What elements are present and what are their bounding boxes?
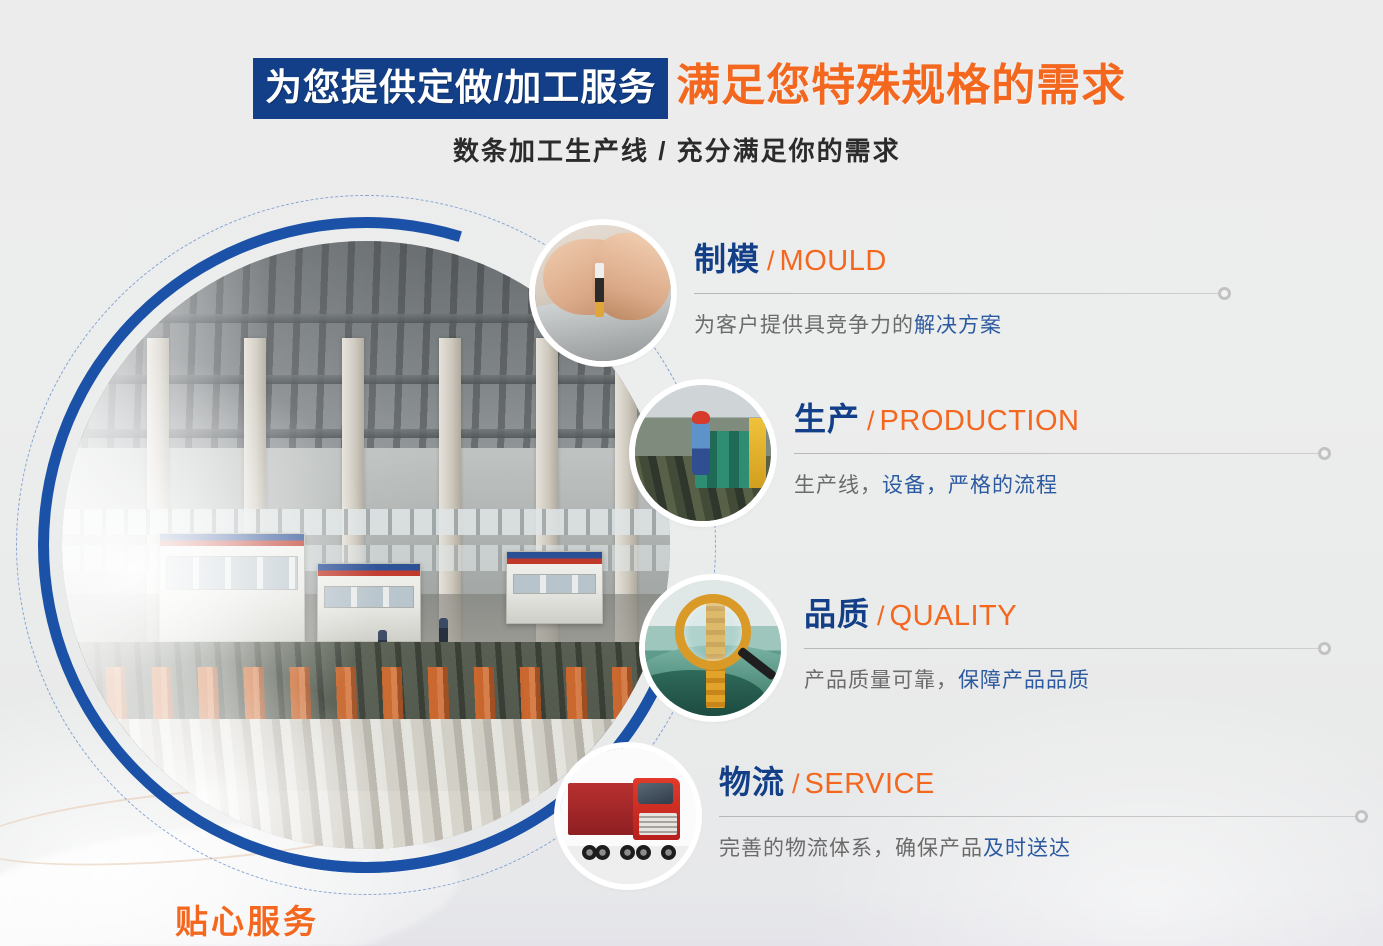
feature-desc-highlight: 设备，严格的流程 xyxy=(882,474,1058,497)
feature-title-en: QUALITY xyxy=(890,600,1018,632)
headline: 为您提供定做/加工服务 满足您特殊规格的需求 xyxy=(253,58,1126,119)
feature-title-cn: 制模 xyxy=(694,241,760,277)
feature-title-mould: 制模/MOULD xyxy=(694,243,887,276)
feature-title-separator: / xyxy=(785,769,805,799)
feature-title-cn: 物流 xyxy=(719,764,785,800)
feature-desc-highlight: 保障产品品质 xyxy=(958,669,1090,692)
feature-row-service[interactable]: 物流/SERVICE 完善的物流体系，确保产品及时送达 xyxy=(560,748,1380,888)
production-thumbnail xyxy=(635,385,771,521)
feature-title-cn: 生产 xyxy=(794,401,860,437)
mould-thumbnail xyxy=(535,225,671,361)
feature-desc-plain: 为客户提供具竞争力的 xyxy=(694,314,914,337)
feature-divider-service xyxy=(719,816,1362,817)
feature-desc-service: 完善的物流体系，确保产品及时送达 xyxy=(719,832,1071,862)
headline-accent: 满足您特殊规格的需求 xyxy=(668,58,1126,119)
subheadline: 数条加工生产线 / 充分满足你的需求 xyxy=(453,131,901,168)
feature-title-en: PRODUCTION xyxy=(880,405,1080,437)
feature-row-quality[interactable]: 品质/QUALITY 产品质量可靠，保障产品品质 xyxy=(645,580,1383,720)
quality-thumbnail xyxy=(645,580,781,716)
feature-title-quality: 品质/QUALITY xyxy=(804,598,1017,631)
feature-divider-endpoint-service xyxy=(1355,810,1368,823)
feature-title-en: MOULD xyxy=(780,245,887,277)
feature-desc-highlight: 及时送达 xyxy=(983,837,1071,860)
feature-divider-production xyxy=(794,453,1325,454)
feature-divider-endpoint-quality xyxy=(1318,642,1331,655)
feature-desc-mould: 为客户提供具竞争力的解决方案 xyxy=(694,309,1002,339)
feature-desc-highlight: 解决方案 xyxy=(914,314,1002,337)
feature-desc-production: 生产线，设备，严格的流程 xyxy=(794,469,1058,499)
feature-desc-plain: 产品质量可靠， xyxy=(804,669,958,692)
feature-title-en: SERVICE xyxy=(805,768,935,800)
feature-divider-quality xyxy=(804,648,1325,649)
feature-divider-endpoint-mould xyxy=(1218,287,1231,300)
promo-banner: 为您提供定做/加工服务 满足您特殊规格的需求 数条加工生产线 / 充分满足你的需… xyxy=(0,0,1383,946)
feature-desc-plain: 生产线， xyxy=(794,474,882,497)
feature-row-mould[interactable]: 制模/MOULD 为客户提供具竞争力的解决方案 xyxy=(535,225,1295,365)
feature-title-separator: / xyxy=(870,601,890,631)
feature-title-service: 物流/SERVICE xyxy=(719,766,935,799)
service-title: 贴心服务 xyxy=(175,895,319,943)
feature-desc-plain: 完善的物流体系，确保产品 xyxy=(719,837,983,860)
logistics-thumbnail xyxy=(560,748,696,884)
feature-title-separator: / xyxy=(860,406,880,436)
feature-divider-mould xyxy=(694,293,1225,294)
feature-divider-endpoint-production xyxy=(1318,447,1331,460)
feature-desc-quality: 产品质量可靠，保障产品品质 xyxy=(804,664,1090,694)
feature-row-production[interactable]: 生产/PRODUCTION 生产线，设备，严格的流程 xyxy=(635,385,1383,525)
headline-badge: 为您提供定做/加工服务 xyxy=(253,58,668,119)
feature-title-production: 生产/PRODUCTION xyxy=(794,403,1079,436)
feature-title-cn: 品质 xyxy=(804,596,870,632)
feature-title-separator: / xyxy=(760,246,780,276)
